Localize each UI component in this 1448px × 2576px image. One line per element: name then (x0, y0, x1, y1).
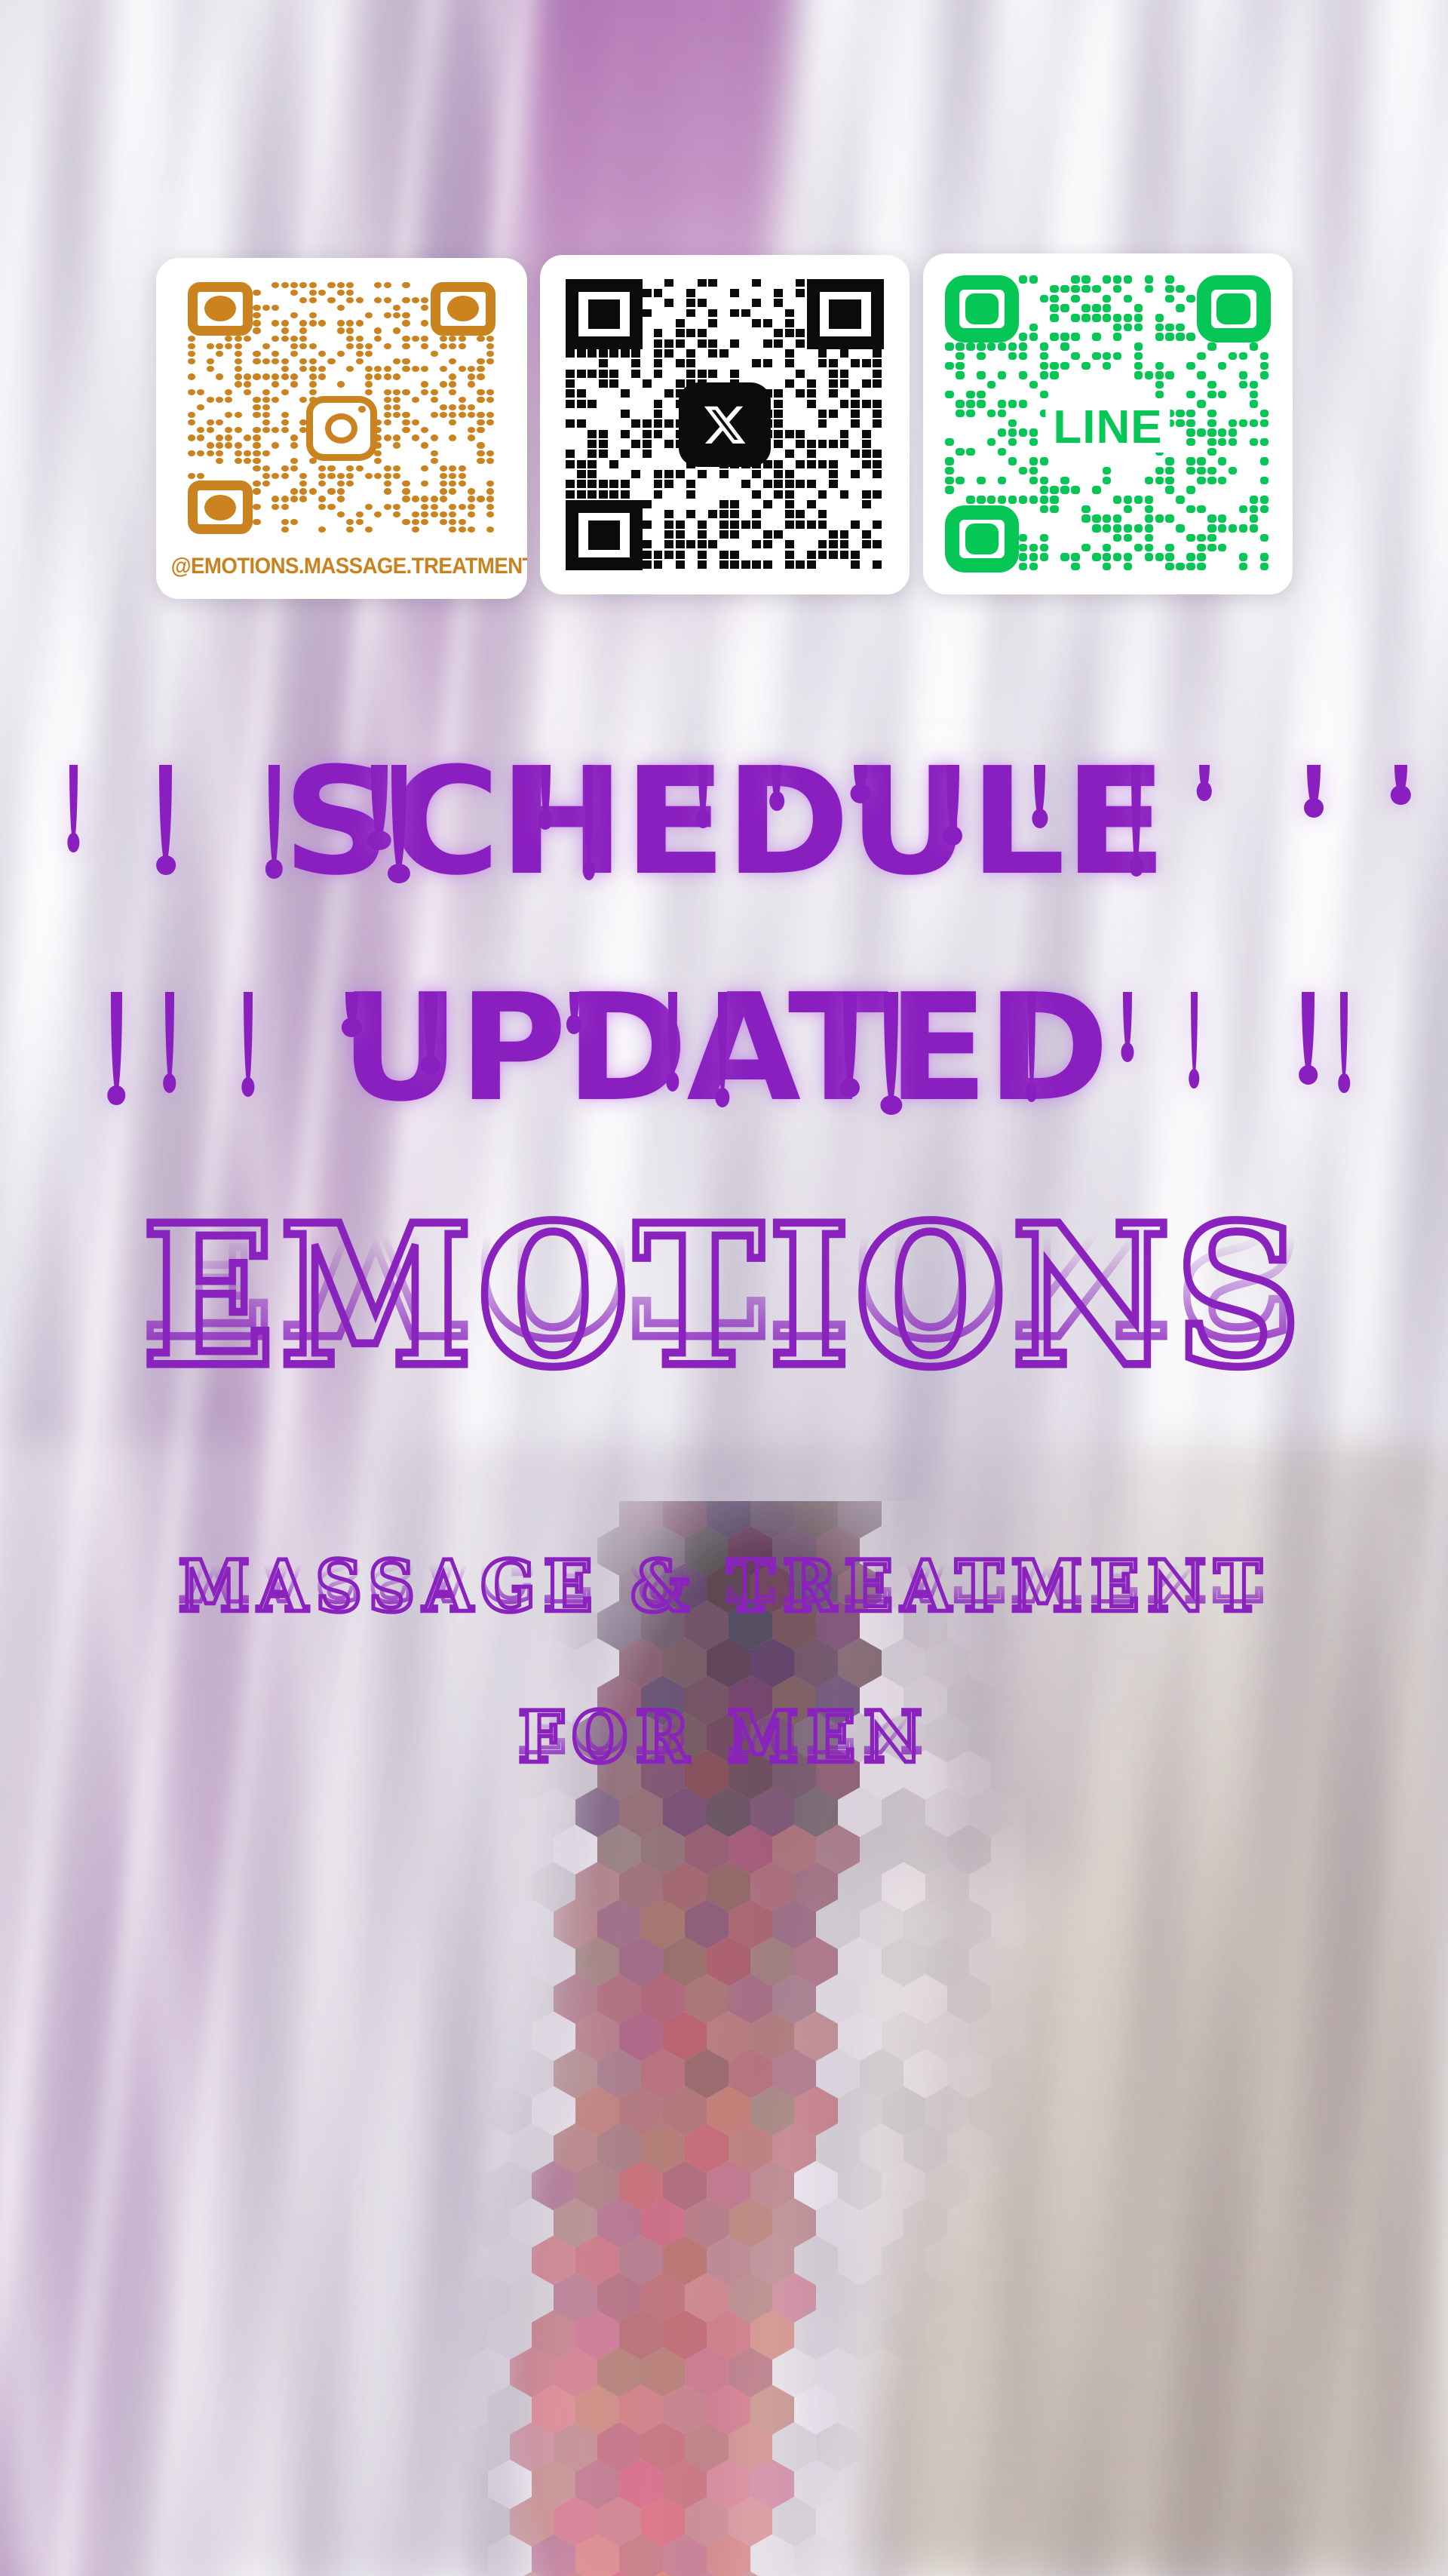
qr-module (393, 312, 400, 318)
qr-module (752, 490, 761, 499)
qr-module (1050, 285, 1058, 293)
qr-module (253, 305, 260, 311)
qr-module (774, 400, 783, 408)
qr-module (449, 481, 456, 487)
qr-module (977, 371, 985, 379)
qr-module (1113, 524, 1121, 532)
qr-module (1134, 304, 1143, 312)
qr-module (318, 320, 326, 326)
instagram-handle-label: @EMOTIONS.MASSAGE.TREATMENT (171, 554, 513, 579)
qr-module (956, 400, 964, 407)
qr-module (318, 496, 326, 502)
qr-module (664, 419, 673, 428)
qr-module (1207, 524, 1216, 532)
qr-module (956, 448, 964, 456)
qr-module (1060, 553, 1069, 560)
qr-module (318, 527, 326, 533)
qr-module (599, 359, 608, 367)
qr-module (356, 351, 364, 357)
qr-module (945, 362, 953, 370)
qr-module (1197, 563, 1205, 570)
qr-module (1186, 333, 1195, 340)
qr-module (956, 342, 964, 350)
qr-module (587, 460, 597, 468)
qr-module (1176, 563, 1184, 570)
qr-module (643, 440, 652, 448)
qr-module (262, 305, 270, 311)
qr-module (188, 343, 195, 349)
qr-module (216, 373, 223, 379)
qr-module (1008, 457, 1017, 465)
qr-module (654, 551, 663, 559)
qr-module (1207, 448, 1216, 456)
qr-module (1165, 467, 1173, 474)
qr-module (577, 389, 586, 398)
qr-module (1155, 362, 1164, 370)
qr-module (599, 450, 608, 458)
qr-module (1040, 496, 1048, 503)
qr-module (421, 481, 428, 487)
qr-module (309, 312, 317, 318)
qr-module (785, 551, 794, 559)
qr-module (785, 349, 794, 358)
qr-module (346, 465, 354, 471)
qr-module (785, 540, 794, 548)
qr-module (393, 327, 400, 333)
qr-module (393, 358, 400, 364)
qr-card-x[interactable] (540, 255, 910, 594)
instagram-icon (306, 396, 376, 461)
qr-module (698, 370, 707, 378)
qr-module (216, 458, 223, 464)
qr-module (431, 511, 438, 517)
qr-module (654, 359, 663, 367)
qr-module (1155, 314, 1164, 321)
qr-module (402, 389, 410, 395)
qr-module (1124, 534, 1132, 542)
qr-finder-inner (829, 299, 861, 329)
qr-module (1218, 524, 1226, 532)
qr-module (225, 389, 232, 395)
qr-module (384, 504, 391, 510)
qr-module (730, 510, 739, 518)
qr-module (730, 289, 739, 297)
qr-module (459, 343, 466, 349)
qr-module (477, 366, 484, 372)
qr-module (207, 358, 214, 364)
qr-module (235, 381, 242, 387)
qr-module (752, 279, 761, 287)
qr-module (1124, 275, 1132, 283)
qr-finder-pattern (566, 279, 643, 349)
qr-module (956, 477, 964, 484)
qr-module (698, 520, 707, 529)
qr-module (818, 520, 827, 529)
qr-module (621, 389, 630, 398)
qr-module (1165, 457, 1173, 465)
qr-module (216, 450, 223, 456)
qr-module (1186, 467, 1195, 474)
qr-module (225, 427, 232, 433)
qr-module (763, 540, 772, 548)
qr-module (1176, 324, 1184, 331)
qr-module (654, 289, 663, 297)
qr-module (412, 419, 419, 425)
qr-module (262, 389, 270, 395)
qr-module (643, 500, 652, 508)
qr-module (1134, 324, 1143, 331)
qr-module (1260, 477, 1269, 484)
qr-module (402, 320, 410, 326)
qr-module (873, 520, 882, 529)
qr-module (271, 320, 279, 326)
qr-module (1029, 544, 1038, 551)
qr-module (587, 440, 597, 448)
qr-module (1134, 544, 1143, 551)
qr-module (1165, 324, 1173, 331)
qr-module (587, 450, 597, 458)
qr-module (262, 473, 270, 479)
qr-finder-inner (447, 296, 479, 321)
qr-module (1071, 333, 1079, 340)
qr-module (299, 481, 307, 487)
qr-module (412, 496, 419, 502)
qr-module (309, 282, 317, 288)
qr-module (664, 510, 673, 518)
qr-module (785, 430, 794, 438)
qr-module (477, 458, 484, 464)
qr-module (486, 412, 494, 418)
qr-module (862, 500, 871, 508)
qr-module (440, 412, 447, 418)
qr-module (1029, 275, 1038, 283)
qr-module (862, 530, 871, 539)
qr-module (346, 366, 354, 372)
qr-module (1134, 371, 1143, 379)
qr-module (1134, 352, 1143, 360)
qr-module (337, 488, 345, 494)
qr-module (374, 511, 382, 517)
qr-module (785, 450, 794, 458)
qr-module (1071, 285, 1079, 293)
qr-module (468, 404, 475, 410)
qr-card-instagram[interactable]: @EMOTIONS.MASSAGE.TREATMENT (156, 258, 527, 599)
qr-module (818, 349, 827, 358)
qr-module (566, 379, 575, 388)
qr-module (631, 359, 640, 367)
qr-module (421, 504, 428, 510)
qr-module (818, 460, 827, 468)
qr-module (664, 440, 673, 448)
qr-module (468, 511, 475, 517)
qr-module (1165, 553, 1173, 560)
qr-module (271, 336, 279, 342)
qr-module (1040, 391, 1048, 398)
qr-finder-inner (204, 296, 236, 321)
qr-module (468, 434, 475, 441)
qr-module (1124, 496, 1132, 503)
qr-module (708, 309, 717, 318)
qr-module (631, 419, 640, 428)
qr-module (309, 389, 317, 395)
qr-module (698, 551, 707, 559)
qr-module (384, 297, 391, 303)
qr-module (1250, 496, 1258, 503)
qr-module (1145, 505, 1153, 513)
qr-module (449, 473, 456, 479)
qr-module (281, 366, 289, 372)
qr-finder-inner (965, 293, 999, 324)
qr-module (862, 379, 871, 388)
qr-module (774, 289, 783, 297)
qr-module (412, 519, 419, 525)
qr-module (281, 282, 289, 288)
qr-module (1176, 410, 1184, 417)
qr-module (654, 430, 663, 438)
qr-module (290, 381, 298, 387)
qr-module (384, 373, 391, 379)
qr-module (1186, 362, 1195, 370)
qr-module (1239, 553, 1247, 560)
qr-module (1124, 553, 1132, 560)
qr-module (1040, 534, 1048, 542)
qr-module (356, 358, 364, 364)
qr-module (384, 481, 391, 487)
qr-module (873, 349, 882, 358)
qr-module (1103, 352, 1111, 360)
qr-module (188, 351, 195, 357)
qr-module (459, 404, 466, 410)
qr-module (477, 397, 484, 403)
qr-module (774, 419, 783, 428)
qr-module (356, 297, 364, 303)
qr-module (796, 430, 805, 438)
qr-module (1165, 295, 1173, 302)
qr-module (253, 465, 260, 471)
qr-module (840, 551, 849, 559)
qr-card-line[interactable]: LINE (923, 253, 1293, 594)
qr-module (851, 560, 860, 569)
qr-module (1103, 477, 1111, 484)
qr-module (299, 496, 307, 502)
qr-module (1060, 342, 1069, 350)
qr-module (664, 299, 673, 307)
qr-module (318, 481, 326, 487)
qr-module (1186, 419, 1195, 427)
qr-module (244, 434, 251, 441)
qr-canvas-x (540, 255, 910, 594)
qr-module (829, 551, 838, 559)
qr-module (818, 419, 827, 428)
qr-module (676, 319, 685, 327)
qr-module (459, 412, 466, 418)
qr-module (393, 412, 400, 418)
qr-module (956, 352, 964, 360)
qr-module (244, 389, 251, 395)
qr-module (393, 305, 400, 311)
qr-module (384, 404, 391, 410)
qr-module (412, 434, 419, 441)
qr-module (807, 450, 816, 458)
qr-module (1197, 457, 1205, 465)
qr-module (966, 496, 974, 503)
qr-module (309, 488, 317, 494)
qr-module (1060, 486, 1069, 493)
qr-module (643, 419, 652, 428)
qr-module (785, 470, 794, 478)
qr-module (862, 400, 871, 408)
qr-module (763, 480, 772, 488)
qr-module (431, 458, 438, 464)
qr-module (654, 470, 663, 478)
qr-module (1113, 324, 1121, 331)
qr-module (440, 519, 447, 525)
qr-module (1239, 371, 1247, 379)
qr-module (318, 465, 326, 471)
qr-module (807, 440, 816, 448)
qr-module (956, 371, 964, 379)
qr-module (262, 450, 270, 456)
qr-module (421, 336, 428, 342)
hexagon-mosaic-grid (422, 1501, 1026, 2576)
qr-module (873, 560, 882, 569)
qr-module (356, 511, 364, 517)
qr-module (299, 282, 307, 288)
qr-module (1260, 457, 1269, 465)
qr-module (1029, 428, 1038, 436)
qr-module (253, 488, 260, 494)
qr-module (1229, 352, 1237, 360)
qr-module (486, 496, 494, 502)
qr-module (998, 342, 1006, 350)
qr-module (1176, 524, 1184, 532)
qr-module (587, 349, 597, 358)
qr-module (421, 465, 428, 471)
qr-module (730, 500, 739, 508)
qr-module (1103, 553, 1111, 560)
qr-module (599, 490, 608, 499)
qr-module (440, 473, 447, 479)
qr-module (216, 419, 223, 425)
qr-module (440, 366, 447, 372)
qr-module (384, 465, 391, 471)
qr-module (346, 343, 354, 349)
qr-module (654, 490, 663, 499)
qr-module (188, 373, 195, 379)
qr-module (346, 473, 354, 479)
qr-module (421, 381, 428, 387)
qr-module (945, 457, 953, 465)
qr-module (698, 339, 707, 348)
qr-module (1186, 553, 1195, 560)
qr-module (1092, 285, 1100, 293)
qr-module (449, 511, 456, 517)
qr-module (698, 299, 707, 307)
qr-module (873, 490, 882, 499)
qr-module (207, 397, 214, 403)
qr-module (1250, 391, 1258, 398)
qr-module (774, 299, 783, 307)
qr-module (1155, 553, 1164, 560)
qr-module (1008, 419, 1017, 427)
qr-module (1197, 505, 1205, 513)
qr-module (1113, 275, 1121, 283)
qr-module (1050, 362, 1058, 370)
qr-module (346, 282, 354, 288)
qr-module (1250, 524, 1258, 532)
qr-module (393, 373, 400, 379)
qr-module (1186, 428, 1195, 436)
qr-module (440, 404, 447, 410)
qr-module (431, 434, 438, 441)
qr-module (752, 520, 761, 529)
qr-module (1019, 333, 1027, 340)
qr-module (1071, 352, 1079, 360)
qr-module (654, 329, 663, 337)
qr-module (486, 336, 494, 342)
qr-finder-pattern (945, 275, 1018, 342)
qr-module (1040, 544, 1048, 551)
qr-module (851, 419, 860, 428)
qr-module (566, 389, 575, 398)
qr-module (1029, 457, 1038, 465)
qr-module (1165, 544, 1173, 551)
qr-finder-pattern (188, 282, 253, 336)
qr-module (225, 412, 232, 418)
qr-module (577, 470, 586, 478)
qr-module (1197, 477, 1205, 484)
qr-module (1050, 505, 1058, 513)
qr-module (225, 336, 232, 342)
qr-module (365, 312, 373, 318)
qr-module (1050, 496, 1058, 503)
qr-module (393, 511, 400, 517)
qr-module (421, 442, 428, 448)
qr-module (253, 458, 260, 464)
qr-module (829, 480, 838, 488)
qr-module (818, 551, 827, 559)
qr-module (477, 427, 484, 433)
qr-module (577, 419, 586, 428)
qr-module (412, 527, 419, 533)
qr-module (1176, 419, 1184, 427)
qr-module (807, 400, 816, 408)
qr-module (1207, 410, 1216, 417)
qr-module (599, 349, 608, 358)
qr-module (402, 358, 410, 364)
qr-module (235, 336, 242, 342)
qr-module (477, 496, 484, 502)
line-icon: LINE (1045, 403, 1170, 453)
qr-finder-pattern (431, 282, 496, 336)
qr-module (698, 279, 707, 287)
qr-module (631, 349, 640, 358)
qr-module (631, 440, 640, 448)
qr-module (356, 465, 364, 471)
qr-module (774, 490, 783, 499)
qr-module (225, 442, 232, 448)
qr-module (477, 419, 484, 425)
qr-module (468, 527, 475, 533)
qr-module (449, 504, 456, 510)
qr-module (421, 297, 428, 303)
qr-module (818, 540, 827, 548)
qr-module (686, 359, 695, 367)
qr-finder-pattern (1197, 275, 1270, 342)
qr-module (1103, 314, 1111, 321)
qr-module (384, 282, 391, 288)
qr-module (1071, 486, 1079, 493)
